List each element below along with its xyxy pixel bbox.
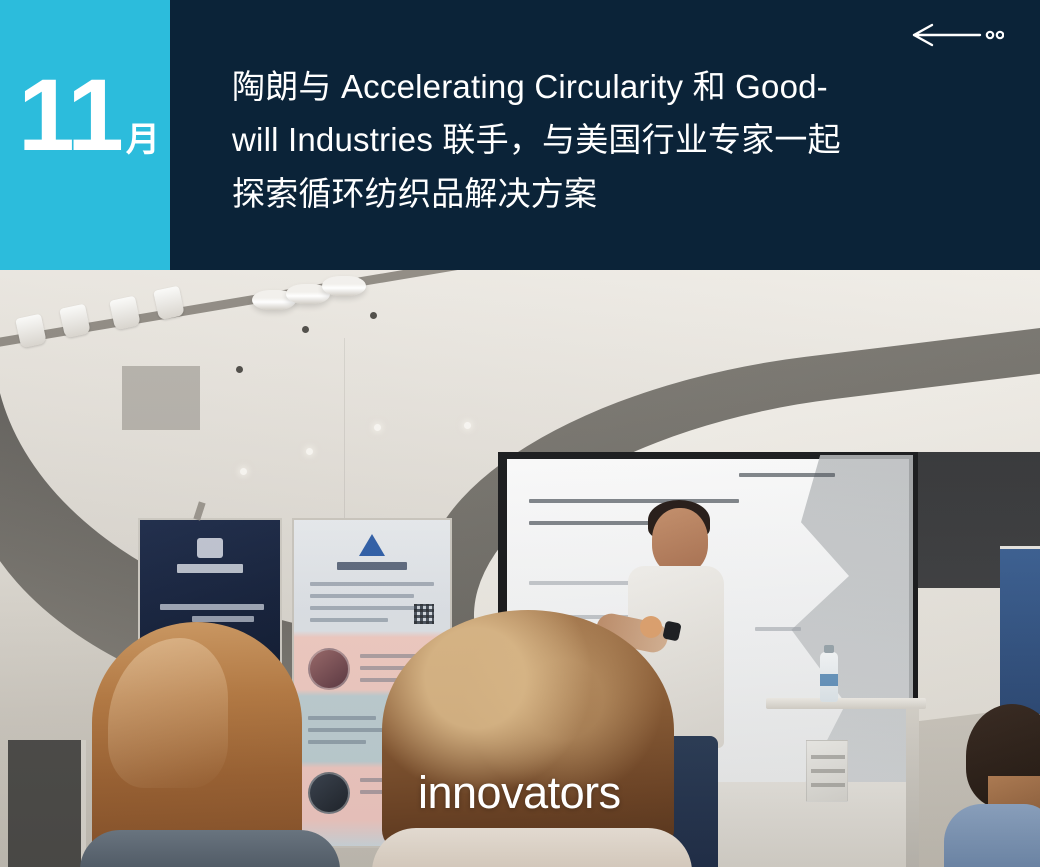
banner-text-line [310, 606, 428, 610]
bottle-cap [824, 645, 834, 653]
door-frame [8, 740, 86, 867]
wall-panel-seam [344, 338, 345, 548]
recessed-downlight-icon [240, 468, 247, 475]
banner-text-line [310, 594, 414, 598]
headline-line-3: 探索循环纺织品解决方案 [232, 167, 968, 220]
slide-text-line [755, 627, 801, 631]
bag-stripe [811, 769, 845, 773]
recessed-downlight-icon [464, 422, 471, 429]
bottle-label [820, 674, 838, 686]
news-card: 11 月 陶朗与 Accelerating Circularity 和 Good… [0, 0, 1040, 867]
banner-brand-text [177, 564, 243, 573]
bag-stripe [811, 783, 845, 787]
date-badge: 11 月 [0, 0, 170, 270]
back-arrow-button[interactable] [912, 22, 1004, 48]
month-number: 11 [18, 72, 122, 160]
audience-member-right-shoulders [944, 804, 1040, 867]
water-bottle [820, 652, 838, 702]
banner-thumbnail [308, 772, 350, 814]
paper-bag [806, 740, 848, 802]
bag-stripe [811, 755, 845, 759]
roll-up-banner-blue [1000, 546, 1040, 714]
side-table-leg [906, 708, 919, 867]
page-title: 陶朗与 Accelerating Circularity 和 Good- wil… [232, 60, 968, 220]
slide-text-line [739, 473, 835, 477]
audience-member-left-shoulders [80, 830, 340, 867]
banner-brand-text [337, 562, 407, 570]
banner-text-line [160, 604, 264, 610]
banner-text-line [308, 740, 366, 744]
side-table-top [766, 698, 926, 709]
header-body: 陶朗与 Accelerating Circularity 和 Good- wil… [170, 0, 1040, 270]
recessed-downlight-icon [370, 312, 377, 319]
card-header: 11 月 陶朗与 Accelerating Circularity 和 Good… [0, 0, 1040, 270]
audience-member-center-shoulders [372, 828, 692, 867]
banner-text-line [310, 582, 434, 586]
wall-acoustic-panel [122, 366, 200, 430]
headline-line-2: will Industries 联手，与美国行业专家一起 [232, 113, 968, 166]
headline-line-1: 陶朗与 Accelerating Circularity 和 Good- [232, 60, 968, 113]
banner-logo-icon [197, 538, 223, 558]
date-badge-inner: 11 月 [18, 72, 160, 160]
recessed-downlight-icon [374, 424, 381, 431]
arrow-left-icon [912, 22, 1004, 48]
banner-text-line [310, 618, 388, 622]
banner-logo-icon [359, 534, 385, 556]
innovators-wordmark: innovators [418, 770, 621, 815]
banner-text-line [308, 716, 376, 720]
banner-qr-code-icon [414, 604, 434, 624]
article-photo: innovators [0, 270, 1040, 867]
recessed-downlight-icon [306, 448, 313, 455]
month-unit-label: 月 [126, 123, 160, 157]
ceiling-puck-light-icon [322, 276, 366, 296]
slide-text-line [529, 499, 739, 503]
banner-thumbnail [308, 648, 350, 690]
recessed-downlight-icon [236, 366, 243, 373]
banner-text-line [308, 728, 386, 732]
presenter-head [652, 508, 708, 574]
presenter-hand [640, 616, 662, 638]
recessed-downlight-icon [302, 326, 309, 333]
